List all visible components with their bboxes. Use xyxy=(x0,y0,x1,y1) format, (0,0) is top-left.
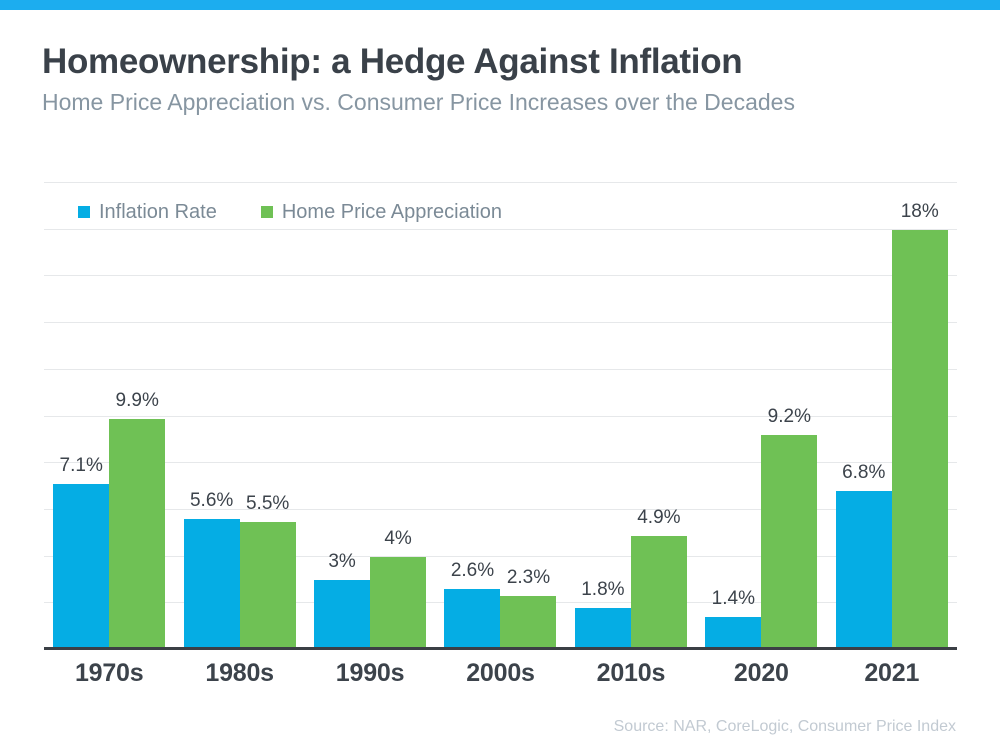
bar-home-price-appreciation[interactable] xyxy=(500,596,556,650)
bar-slot: 4% xyxy=(370,183,426,650)
x-axis-tick-label: 1990s xyxy=(305,661,435,686)
source-note: Source: NAR, CoreLogic, Consumer Price I… xyxy=(614,718,956,736)
chart-header: Homeownership: a Hedge Against Inflation… xyxy=(42,42,962,116)
bar-inflation-rate[interactable] xyxy=(184,519,240,650)
bar-group: 5.6%5.5% xyxy=(174,183,304,650)
bar-slot: 3% xyxy=(314,183,370,650)
bar-value-label: 4% xyxy=(384,529,411,548)
bar-group: 1.8%4.9% xyxy=(566,183,696,650)
bar-value-label: 6.8% xyxy=(842,463,885,482)
legend-label: Home Price Appreciation xyxy=(282,202,502,222)
bar-inflation-rate[interactable] xyxy=(575,608,631,650)
bar-group: 1.4%9.2% xyxy=(696,183,826,650)
page-subtitle: Home Price Appreciation vs. Consumer Pri… xyxy=(42,89,962,115)
bar-slot: 5.6% xyxy=(184,183,240,650)
bar-slot: 9.2% xyxy=(761,183,817,650)
top-accent-strip xyxy=(0,0,1000,10)
bar-value-label: 1.8% xyxy=(581,580,624,599)
x-axis-tick-label: 1980s xyxy=(174,661,304,686)
bar-value-label: 5.5% xyxy=(246,494,289,513)
bar-inflation-rate[interactable] xyxy=(705,617,761,650)
bar-group: 7.1%9.9% xyxy=(44,183,174,650)
bar-inflation-rate[interactable] xyxy=(444,589,500,650)
bar-group: 2.6%2.3% xyxy=(435,183,565,650)
bar-value-label: 9.2% xyxy=(768,407,811,426)
bar-slot: 18% xyxy=(892,183,948,650)
bar-group: 6.8%18% xyxy=(827,183,957,650)
legend-item-home-price-appreciation[interactable]: Home Price Appreciation xyxy=(261,202,502,222)
plot-area: Inflation RateHome Price Appreciation 7.… xyxy=(44,183,957,650)
bar-inflation-rate[interactable] xyxy=(53,484,109,650)
bar-slot: 9.9% xyxy=(109,183,165,650)
bar-inflation-rate[interactable] xyxy=(314,580,370,650)
page-title: Homeownership: a Hedge Against Inflation xyxy=(42,42,962,81)
x-axis-tick-label: 1970s xyxy=(44,661,174,686)
bar-slot: 5.5% xyxy=(240,183,296,650)
x-axis-labels: 1970s1980s1990s2000s2010s20202021 xyxy=(44,661,957,686)
bar-series-layer: 7.1%9.9%5.6%5.5%3%4%2.6%2.3%1.8%4.9%1.4%… xyxy=(44,183,957,650)
bar-slot: 1.8% xyxy=(575,183,631,650)
x-axis-tick-label: 2000s xyxy=(435,661,565,686)
bar-slot: 6.8% xyxy=(836,183,892,650)
legend-swatch-icon xyxy=(78,206,90,218)
x-axis-baseline xyxy=(44,647,957,650)
bar-home-price-appreciation[interactable] xyxy=(370,557,426,650)
bar-inflation-rate[interactable] xyxy=(836,491,892,650)
x-axis-tick-label: 2021 xyxy=(827,661,957,686)
chart-page: Homeownership: a Hedge Against Inflation… xyxy=(0,0,1000,750)
bar-value-label: 2.3% xyxy=(507,568,550,587)
bar-slot: 2.6% xyxy=(444,183,500,650)
bar-home-price-appreciation[interactable] xyxy=(892,230,948,650)
bar-slot: 1.4% xyxy=(705,183,761,650)
bar-value-label: 7.1% xyxy=(60,456,103,475)
bar-slot: 4.9% xyxy=(631,183,687,650)
legend-swatch-icon xyxy=(261,206,273,218)
bar-value-label: 18% xyxy=(901,202,939,221)
bar-value-label: 4.9% xyxy=(637,508,680,527)
bar-value-label: 2.6% xyxy=(451,561,494,580)
bar-slot: 2.3% xyxy=(500,183,556,650)
bar-home-price-appreciation[interactable] xyxy=(761,435,817,650)
bar-home-price-appreciation[interactable] xyxy=(240,522,296,650)
x-axis-tick-label: 2010s xyxy=(566,661,696,686)
bar-value-label: 1.4% xyxy=(712,589,755,608)
bar-value-label: 5.6% xyxy=(190,491,233,510)
bar-home-price-appreciation[interactable] xyxy=(631,536,687,650)
x-axis-tick-label: 2020 xyxy=(696,661,826,686)
chart-legend: Inflation RateHome Price Appreciation xyxy=(78,195,502,229)
bar-home-price-appreciation[interactable] xyxy=(109,419,165,650)
bar-group: 3%4% xyxy=(305,183,435,650)
bar-slot: 7.1% xyxy=(53,183,109,650)
legend-item-inflation-rate[interactable]: Inflation Rate xyxy=(78,202,217,222)
bar-value-label: 9.9% xyxy=(116,391,159,410)
legend-label: Inflation Rate xyxy=(99,202,217,222)
bar-value-label: 3% xyxy=(328,552,355,571)
